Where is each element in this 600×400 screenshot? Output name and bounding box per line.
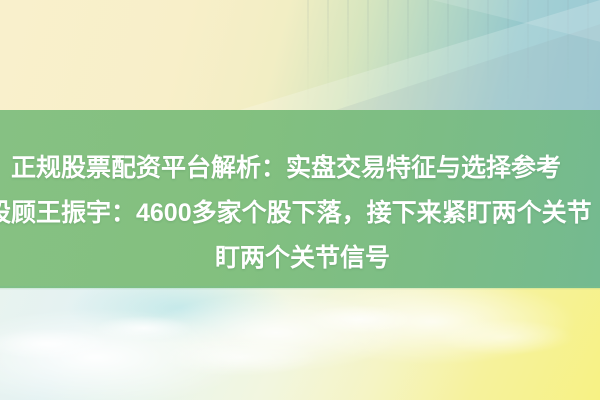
band-seam [0,286,600,290]
headline-line-2: 股顾王振宇：4600多家个股下落，接下来紧盯两个关节 [0,191,600,236]
banner-image: 正规股票配资平台解析：实盘交易特征与选择参考 股顾王振宇：4600多家个股下落，… [0,0,600,400]
headline-line-3: 盯两个关节信号 [0,236,600,281]
headline-text: 正规股票配资平台解析：实盘交易特征与选择参考 股顾王振宇：4600多家个股下落，… [0,146,600,281]
bottom-sky-band [0,288,600,400]
top-gradient-band [0,0,600,110]
headline-line-1: 正规股票配资平台解析：实盘交易特征与选择参考 [0,146,600,191]
